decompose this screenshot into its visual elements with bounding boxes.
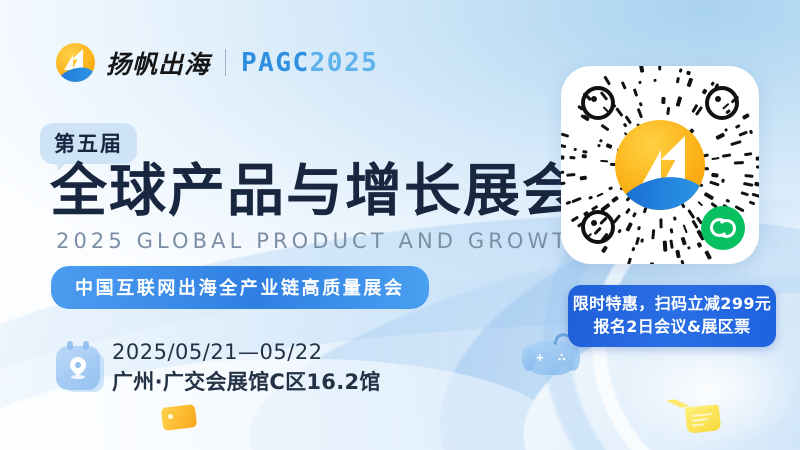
- brand-logo: 扬帆出海 PAGC2025: [56, 43, 378, 82]
- event-code-logo: PAGC2025: [241, 48, 378, 78]
- brand-name-cn: 扬帆出海: [106, 45, 210, 81]
- promo-offer[interactable]: 限时特惠，扫码立减299元 报名2日会议&展区票: [568, 285, 776, 347]
- sailboat-sun-logo-icon: [615, 120, 705, 210]
- qr-eye-top-right: [705, 86, 739, 120]
- promo-banner: 扬帆出海 PAGC2025 第五届 全球产品与增长展会 2025 GLOBAL …: [0, 0, 800, 450]
- promo-line-1: 限时特惠，扫码立减299元: [568, 292, 776, 315]
- qr-eye-bottom-left: [581, 210, 615, 244]
- event-code: PAGC: [241, 48, 310, 78]
- page-title: 全球产品与增长展会: [50, 163, 581, 220]
- event-year: 2025: [310, 48, 379, 78]
- gamepad-buttons-icon: ∴: [558, 351, 566, 364]
- logo-divider: [225, 49, 226, 76]
- qr-eye-top-left: [581, 86, 615, 120]
- price-tag-icon: [161, 404, 198, 431]
- event-venue: 广州·广交会展馆C区16.2馆: [112, 366, 381, 396]
- sailboat-sun-logo-icon: [56, 43, 95, 82]
- event-date: 2025/05/21—05/22: [112, 340, 381, 364]
- gamepad-dpad-icon: +: [536, 350, 544, 365]
- event-info: 2025/05/21—05/22 广州·广交会展馆C区16.2馆: [56, 340, 381, 396]
- wechat-miniprogram-icon: [701, 206, 745, 250]
- promo-line-2: 报名2日会议&展区票: [568, 315, 776, 338]
- qr-code-icon[interactable]: [561, 66, 759, 264]
- tagline-pill: 中国互联网出海全产业链高质量展会: [51, 266, 429, 309]
- location-pin-icon: [56, 346, 100, 390]
